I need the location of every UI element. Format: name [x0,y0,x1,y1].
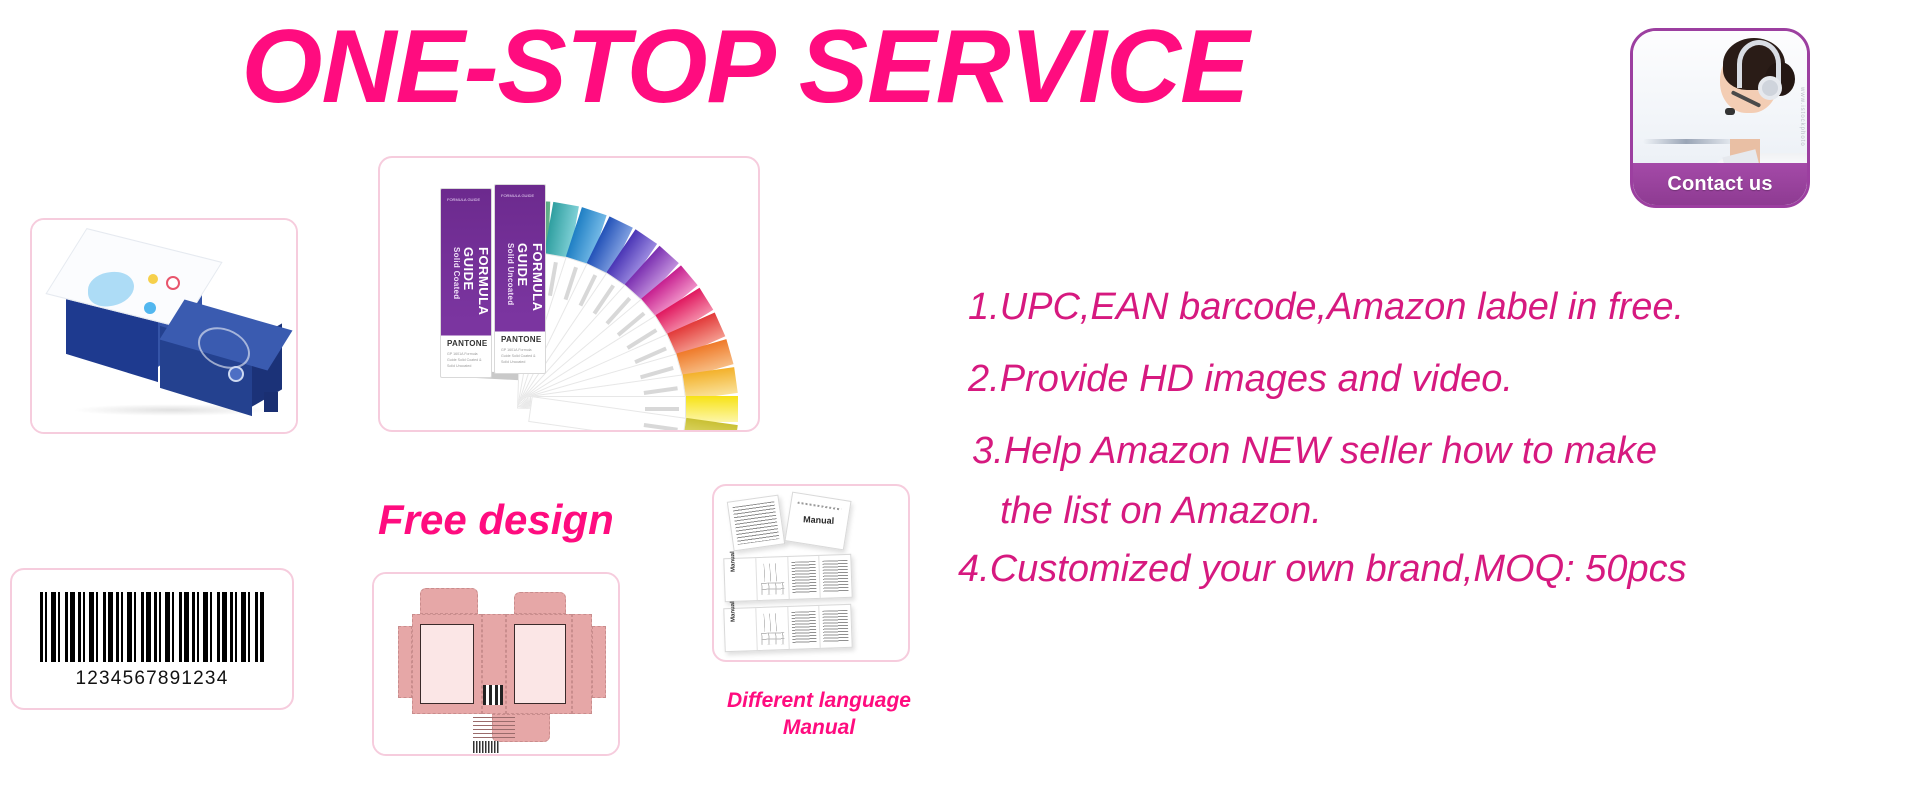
manual-card: Manual Manual Manual [712,484,910,662]
pantone-book2-title: FORMULA GUIDE [515,243,545,311]
free-design-caption: Free design [378,496,614,544]
manual-folded-sheet: Manual [723,554,852,602]
feature-item-3-continued: the list on Amazon. [1000,492,1322,530]
dieline-front-panel [514,624,566,704]
gift-box-photo [32,220,296,432]
manual-booklet-cover: Manual [784,492,851,551]
barcode-card: 1234567891234 [10,568,294,710]
feature-item-3: 3.Help Amazon NEW seller how to make [972,432,1657,470]
pantone-book-coated: FORMULA GUIDE FORMULA GUIDE Solid Coated… [440,188,492,378]
dieline-back-panel [420,624,474,704]
manual-folded-sheet: Manual [723,604,852,652]
packaging-dieline-artwork [374,574,618,754]
manual-panel-label: Manual [730,551,737,572]
pantone-book-header-2: FORMULA GUIDE [501,193,539,199]
gift-box-card [30,218,298,434]
pantone-book2-subtitle: Solid Uncoated [506,243,515,343]
manual-caption-line2: Manual [700,715,938,742]
one-stop-service-banner: ONE-STOP SERVICE www.istockphoto Contact… [0,0,1920,800]
pantone-book1-title: FORMULA GUIDE [461,247,491,315]
barcode-graphic [40,592,264,662]
manual-booklet-open [727,495,785,552]
pantone-book-header: FORMULA GUIDE [447,197,485,203]
manual-cover-label: Manual [803,514,834,526]
pantone-fan-deck-photo: FORMULA GUIDE FORMULA GUIDE Solid Coated… [380,158,758,430]
contact-us-label[interactable]: Contact us [1633,163,1807,205]
manual-caption-line1: Different language [700,688,938,715]
feature-item-4: 4.Customized your own brand,MOQ: 50pcs [958,550,1687,588]
dieline-barcode-icon [473,741,499,753]
feature-item-1: 1.UPC,EAN barcode,Amazon label in free. [968,288,1684,326]
barcode-number: 1234567891234 [12,668,292,690]
pantone-brand-1: PANTONE [447,339,487,348]
pantone-fineprint-2: GP 1601A Formula Guide Solid Coated & So… [501,347,540,365]
manual-caption: Different language Manual [700,688,938,742]
feature-item-2: 2.Provide HD images and video. [968,360,1513,398]
pantone-guide-card: FORMULA GUIDE FORMULA GUIDE Solid Coated… [378,156,760,432]
pantone-book-uncoated: FORMULA GUIDE FORMULA GUIDE Solid Uncoat… [494,184,546,374]
dieline-card [372,572,620,756]
pantone-fineprint-1: GP 1601A Formula Guide Solid Coated & So… [447,351,486,369]
contact-us-card[interactable]: www.istockphoto Contact us [1630,28,1810,208]
pantone-brand-2: PANTONE [501,335,541,344]
qr-code-icon [483,685,503,705]
page-title: ONE-STOP SERVICE [0,8,1490,128]
photo-watermark: www.istockphoto [1799,87,1805,147]
manual-panel-label: Manual [730,601,737,622]
pantone-book1-subtitle: Solid Coated [452,247,461,347]
